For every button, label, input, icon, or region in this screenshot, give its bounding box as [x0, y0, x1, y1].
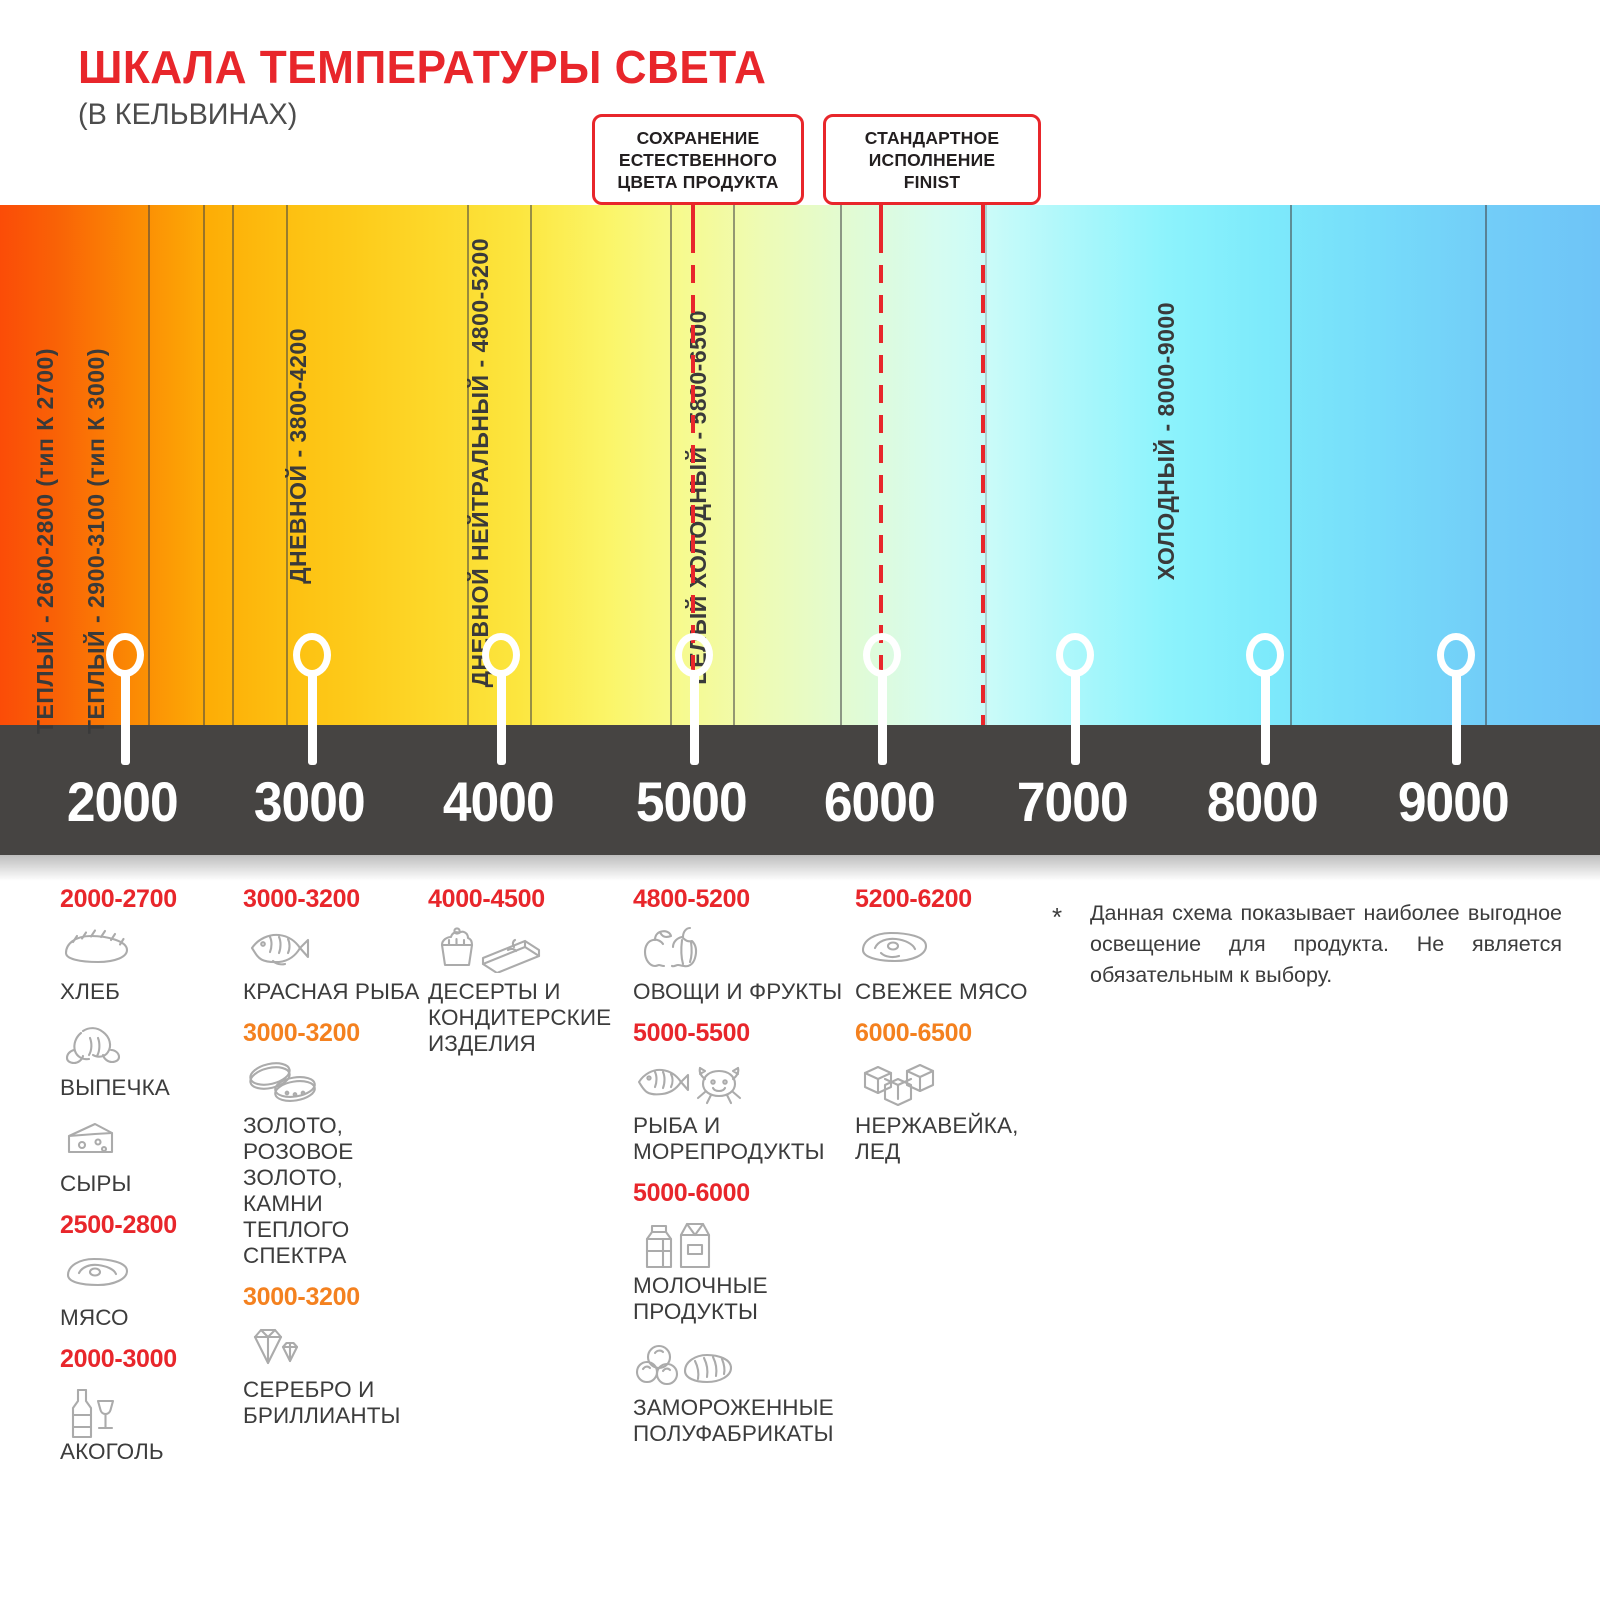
legend-column-1: 2000-2700 ХЛЕБ ВЫПЕЧКА СЫРЫ2500-2800 МЯС… [60, 885, 235, 1479]
legend-group: 6000-6500 НЕРЖАВЕЙКА, ЛЕД [855, 1019, 1040, 1165]
legend-item-label: ЗАМОРОЖЕННЫЕ ПОЛУФАБРИКАТЫ [633, 1395, 848, 1447]
legend-item-label: ВЫПЕЧКА [60, 1075, 235, 1101]
bread-icon [60, 923, 235, 975]
scale-strip [0, 725, 1600, 855]
legend-item-label: НЕРЖАВЕЙКА, ЛЕД [855, 1113, 1040, 1165]
legend-group: 4000-4500 ДЕСЕРТЫ И КОНДИТЕРСКИЕ ИЗДЕЛИЯ [428, 885, 618, 1057]
footnote-marker: * [1052, 904, 1062, 930]
marker-ring-icon [106, 633, 144, 677]
legend-group: 5200-6200 СВЕЖЕЕ МЯСО [855, 885, 1040, 1005]
steak-icon [60, 1249, 235, 1301]
legend-item: ВЫПЕЧКА [60, 1019, 235, 1101]
band-label-warm-2700: ТЕПЛЫЙ - 2600-2800 (тип К 2700) [32, 348, 59, 734]
ice-cubes-icon [855, 1057, 1040, 1109]
legend-item: АКОГОЛЬ [60, 1383, 235, 1465]
legend-range-label: 5000-6000 [633, 1179, 848, 1208]
legend-item-label: МОЛОЧНЫЕ ПРОДУКТЫ [633, 1273, 848, 1325]
red-dashed-marker-2 [981, 205, 985, 725]
band-divider-1 [203, 205, 205, 725]
legend-group: 3000-3200 КРАСНАЯ РЫБА [243, 885, 423, 1005]
legend-group: 2000-3000 АКОГОЛЬ [60, 1345, 235, 1465]
legend-item: ОВОЩИ И ФРУКТЫ [633, 923, 848, 1005]
frozen-food-icon [633, 1339, 848, 1391]
callout-box-2: СТАНДАРТНОЕ ИСПОЛНЕНИЕ FINIST [823, 114, 1041, 205]
legend-column-5: 5200-6200 СВЕЖЕЕ МЯСО6000-6500 НЕРЖАВЕЙК… [855, 885, 1040, 1179]
legend-range-label: 4800-5200 [633, 885, 848, 914]
marker-stem [878, 673, 887, 765]
legend-item-label: РЫБА И МОРЕПРОДУКТЫ [633, 1113, 848, 1165]
band-divider-9 [1290, 205, 1292, 725]
marker-ring-icon [1437, 633, 1475, 677]
legend-item-label: ДЕСЕРТЫ И КОНДИТЕРСКИЕ ИЗДЕЛИЯ [428, 979, 618, 1057]
legend-item-label: СВЕЖЕЕ МЯСО [855, 979, 1040, 1005]
scale-number-3000: 3000 [254, 769, 365, 834]
legend-item: ЗОЛОТО, РОЗОВОЕ ЗОЛОТО, КАМНИ ТЕПЛОГО СП… [243, 1057, 423, 1269]
band-divider-7 [733, 205, 735, 725]
marker-stem [1261, 673, 1270, 765]
band-label-cold: ХОЛОДНЫЙ - 8000-9000 [1153, 302, 1180, 580]
legend-column-3: 4000-4500 ДЕСЕРТЫ И КОНДИТЕРСКИЕ ИЗДЕЛИЯ [428, 885, 618, 1071]
marker-stem [308, 673, 317, 765]
legend-item-label: ХЛЕБ [60, 979, 235, 1005]
band-divider-5 [530, 205, 532, 725]
legend-item: СВЕЖЕЕ МЯСО [855, 923, 1040, 1005]
milk-carton-icon [633, 1217, 848, 1269]
marker-stem [121, 673, 130, 765]
fruit-vegetable-icon [633, 923, 848, 975]
legend-item-label: СЫРЫ [60, 1171, 235, 1197]
band-divider-2 [232, 205, 234, 725]
band-label-day-neutral: ДНЕВНОЙ НЕЙТРАЛЬНЫЙ - 4800-5200 [467, 238, 494, 687]
legend-range-label: 2000-3000 [60, 1345, 235, 1374]
scale-number-7000: 7000 [1017, 769, 1128, 834]
legend-item: КРАСНАЯ РЫБА [243, 923, 423, 1005]
marker-ring-icon [863, 633, 901, 677]
band-label-daylight: ДНЕВНОЙ - 3800-4200 [285, 328, 312, 584]
legend-group: 5000-5500 РЫБА И МОРЕПРОДУКТЫ [633, 1019, 848, 1165]
legend-item-label: МЯСО [60, 1305, 235, 1331]
band-label-white-cold: БЕЛЫЙ ХОЛОДНЫЙ - 5800-6500 [685, 310, 712, 685]
legend-range-label: 2000-2700 [60, 885, 235, 914]
cheese-icon [60, 1115, 235, 1167]
legend-group: 3000-3200 СЕРЕБРО И БРИЛЛИАНТЫ [243, 1283, 423, 1429]
cake-dessert-icon [428, 923, 618, 975]
footnote-text: Данная схема показывает наиболее выгодно… [1090, 898, 1562, 991]
spectrum-gradient [0, 205, 1600, 725]
callout-box-1: СОХРАНЕНИЕ ЕСТЕСТВЕННОГО ЦВЕТА ПРОДУКТА [592, 114, 804, 205]
marker-ring-icon [1056, 633, 1094, 677]
legend-item-label: ЗОЛОТО, РОЗОВОЕ ЗОЛОТО, КАМНИ ТЕПЛОГО СП… [243, 1113, 423, 1269]
legend-item: ХЛЕБ [60, 923, 235, 1005]
diamond-icon [243, 1321, 423, 1373]
legend-range-label: 3000-3200 [243, 1019, 423, 1048]
legend-column-4: 4800-5200 ОВОЩИ И ФРУКТЫ5000-5500 РЫБА И… [633, 885, 848, 1461]
footnote: * Данная схема показывает наиболее выгод… [1052, 898, 1562, 991]
scale-number-6000: 6000 [824, 769, 935, 834]
band-divider-0 [148, 205, 150, 725]
legend-item: ДЕСЕРТЫ И КОНДИТЕРСКИЕ ИЗДЕЛИЯ [428, 923, 618, 1057]
bottle-glass-icon [60, 1383, 235, 1435]
legend: 2000-2700 ХЛЕБ ВЫПЕЧКА СЫРЫ2500-2800 МЯС… [0, 885, 1600, 1600]
page-title: ШКАЛА ТЕМПЕРАТУРЫ СВЕТА [78, 40, 766, 94]
legend-range-label: 5000-5500 [633, 1019, 848, 1048]
legend-group: 5000-6000 МОЛОЧНЫЕ ПРОДУКТЫ ЗАМОРОЖЕННЫЕ… [633, 1179, 848, 1447]
marker-stem [497, 673, 506, 765]
band-divider-6 [670, 205, 672, 725]
legend-item: СЫРЫ [60, 1115, 235, 1197]
scale-number-2000: 2000 [67, 769, 178, 834]
legend-column-2: 3000-3200 КРАСНАЯ РЫБА3000-3200 ЗОЛОТО, … [243, 885, 423, 1443]
marker-ring-icon [675, 633, 713, 677]
legend-item: НЕРЖАВЕЙКА, ЛЕД [855, 1057, 1040, 1165]
spectrum-band-wrapper: СУПЕР ТЕПЛЫЙ - 2200-2400 (тип К 2400)ТЕП… [0, 205, 1600, 725]
band-label-warm-3000: ТЕПЛЫЙ - 2900-3100 (тип К 3000) [83, 348, 110, 734]
marker-ring-icon [1246, 633, 1284, 677]
legend-item: СЕРЕБРО И БРИЛЛИАНТЫ [243, 1321, 423, 1429]
legend-range-label: 3000-3200 [243, 885, 423, 914]
legend-item-label: СЕРЕБРО И БРИЛЛИАНТЫ [243, 1377, 423, 1429]
legend-group: 2500-2800 МЯСО [60, 1211, 235, 1331]
fish-crab-icon [633, 1057, 848, 1109]
legend-range-label: 4000-4500 [428, 885, 618, 914]
croissant-icon [60, 1019, 235, 1071]
legend-group: 3000-3200 ЗОЛОТО, РОЗОВОЕ ЗОЛОТО, КАМНИ … [243, 1019, 423, 1269]
band-divider-8 [840, 205, 842, 725]
legend-item: МЯСО [60, 1249, 235, 1331]
scale-number-8000: 8000 [1207, 769, 1318, 834]
legend-group: 4800-5200 ОВОЩИ И ФРУКТЫ [633, 885, 848, 1005]
fresh-meat-icon [855, 923, 1040, 975]
legend-item: ЗАМОРОЖЕННЫЕ ПОЛУФАБРИКАТЫ [633, 1339, 848, 1447]
fish-icon [243, 923, 423, 975]
legend-range-label: 5200-6200 [855, 885, 1040, 914]
marker-stem [690, 673, 699, 765]
legend-range-label: 2500-2800 [60, 1211, 235, 1240]
scale-number-5000: 5000 [636, 769, 747, 834]
legend-group: 2000-2700 ХЛЕБ ВЫПЕЧКА СЫРЫ [60, 885, 235, 1197]
marker-ring-icon [293, 633, 331, 677]
legend-item-label: ОВОЩИ И ФРУКТЫ [633, 979, 848, 1005]
scale-number-4000: 4000 [443, 769, 554, 834]
legend-range-label: 3000-3200 [243, 1283, 423, 1312]
marker-stem [1071, 673, 1080, 765]
marker-stem [1452, 673, 1461, 765]
marker-ring-icon [482, 633, 520, 677]
legend-range-label: 6000-6500 [855, 1019, 1040, 1048]
legend-item-label: КРАСНАЯ РЫБА [243, 979, 423, 1005]
rings-icon [243, 1057, 423, 1109]
band-divider-10 [1485, 205, 1487, 725]
legend-item: МОЛОЧНЫЕ ПРОДУКТЫ [633, 1217, 848, 1325]
legend-item: РЫБА И МОРЕПРОДУКТЫ [633, 1057, 848, 1165]
scale-number-9000: 9000 [1398, 769, 1509, 834]
page-subtitle: (В КЕЛЬВИНАХ) [78, 98, 297, 132]
legend-item-label: АКОГОЛЬ [60, 1439, 235, 1465]
band-divider-faint-0 [985, 205, 987, 725]
scale-strip-shadow [0, 855, 1600, 881]
